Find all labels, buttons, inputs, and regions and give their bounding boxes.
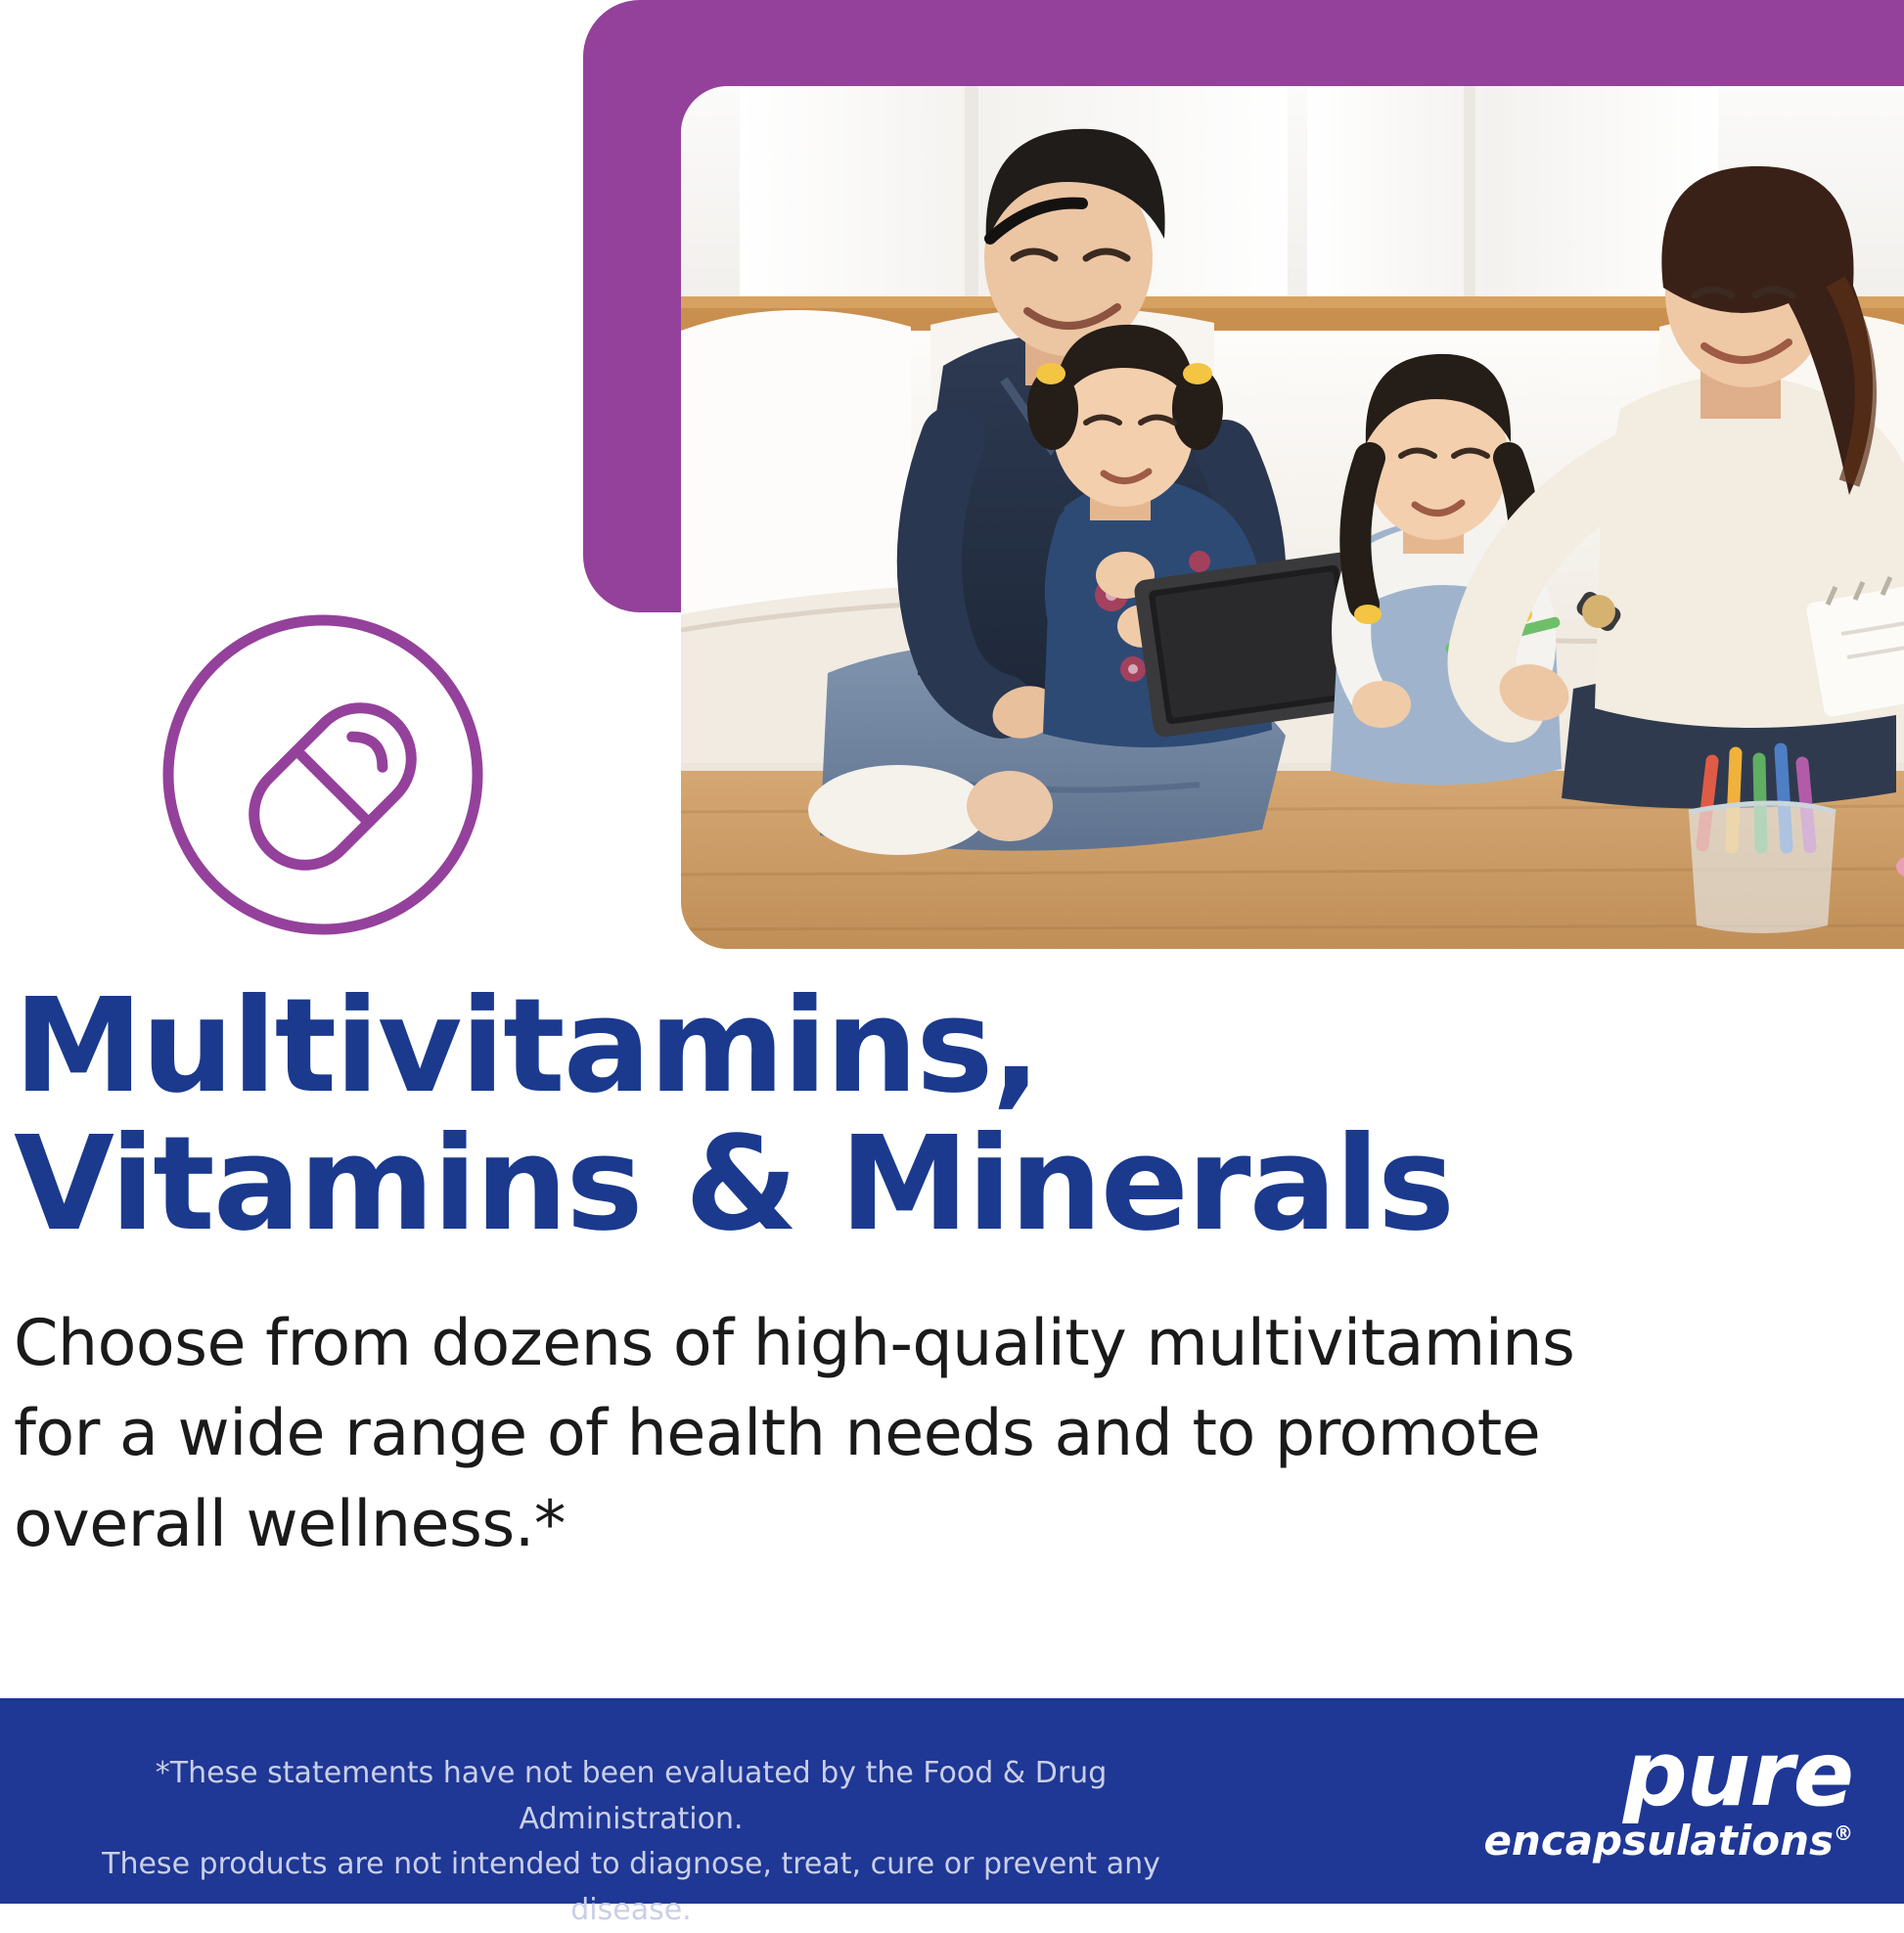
hero-family-photo [681,86,1904,949]
disclaimer-line-1: *These statements have not been evaluate… [68,1751,1194,1842]
headline-line-1: Multivitamins, [14,971,1039,1122]
fda-disclaimer: *These statements have not been evaluate… [68,1751,1194,1933]
headline-line-2: Vitamins & Minerals [14,1116,1722,1254]
page-title: Multivitamins, Vitamins & Minerals [14,978,1722,1254]
promo-description: Choose from dozens of high-quality multi… [14,1299,1722,1570]
promo-text-block: Multivitamins, Vitamins & Minerals Choos… [0,978,1722,1570]
capsule-pill-icon-graphic [157,608,489,941]
capsule-pill-icon [157,608,489,941]
brand-subwordmark: encapsulations® [1481,1821,1853,1862]
subcopy-line-1: Choose from dozens of high-quality multi… [14,1299,1722,1389]
brand-subwordmark-text: encapsulations [1483,1817,1834,1865]
subcopy-line-2: for a wide range of health needs and to … [14,1389,1722,1479]
subcopy-line-3: overall wellness.* [14,1480,1722,1570]
brand-wordmark: pure [1481,1733,1853,1817]
hero-photo-illustration [681,86,1904,949]
registered-trademark-icon: ® [1834,1821,1853,1845]
disclaimer-line-2: These products are not intended to diagn… [68,1842,1194,1933]
footer-bar: *These statements have not been evaluate… [0,1698,1904,1904]
pure-encapsulations-logo: pure encapsulations® [1481,1733,1853,1870]
